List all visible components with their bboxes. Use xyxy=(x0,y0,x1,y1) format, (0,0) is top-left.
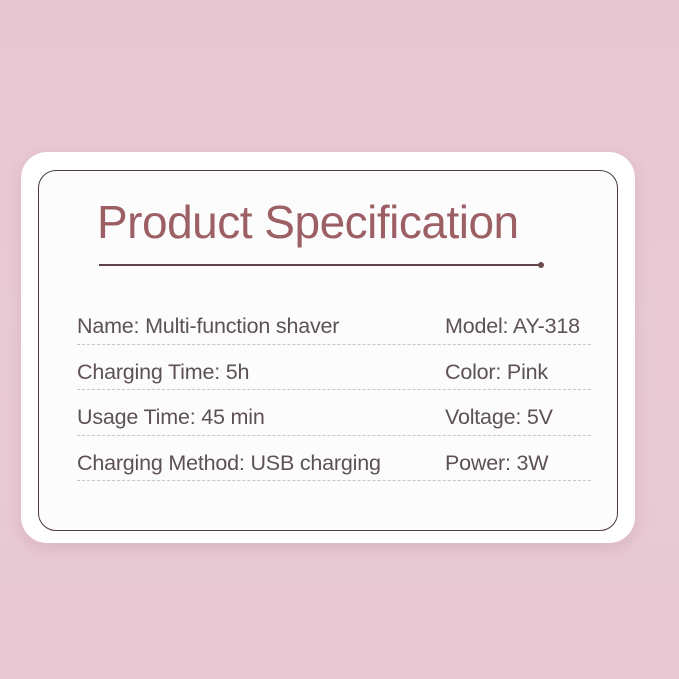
table-row: Name: Multi-function shaver Model: AY-31… xyxy=(77,299,591,345)
table-row: Charging Time: 5h Color: Pink xyxy=(77,345,591,391)
spec-name-value: Name: Multi-function shaver xyxy=(77,316,445,344)
spec-charging-method-value: Charging Method: USB charging xyxy=(77,453,445,481)
spec-power-value: Power: 3W xyxy=(445,453,591,481)
specification-card: Product Specification Name: Multi-functi… xyxy=(21,152,635,543)
page-background: Product Specification Name: Multi-functi… xyxy=(0,0,679,679)
card-inner-border: Product Specification Name: Multi-functi… xyxy=(38,170,618,531)
spec-model-value: Model: AY-318 xyxy=(445,316,591,344)
table-row: Usage Time: 45 min Voltage: 5V xyxy=(77,390,591,436)
spec-usage-time-value: Usage Time: 45 min xyxy=(77,407,445,435)
spec-charging-time-value: Charging Time: 5h xyxy=(77,362,445,390)
spec-color-value: Color: Pink xyxy=(445,362,591,390)
specification-table: Name: Multi-function shaver Model: AY-31… xyxy=(77,299,591,481)
page-title: Product Specification xyxy=(97,199,519,245)
table-row: Charging Method: USB charging Power: 3W xyxy=(77,436,591,482)
spec-voltage-value: Voltage: 5V xyxy=(445,407,591,435)
title-underline-rule xyxy=(99,264,542,266)
card-content: Product Specification Name: Multi-functi… xyxy=(39,171,617,530)
